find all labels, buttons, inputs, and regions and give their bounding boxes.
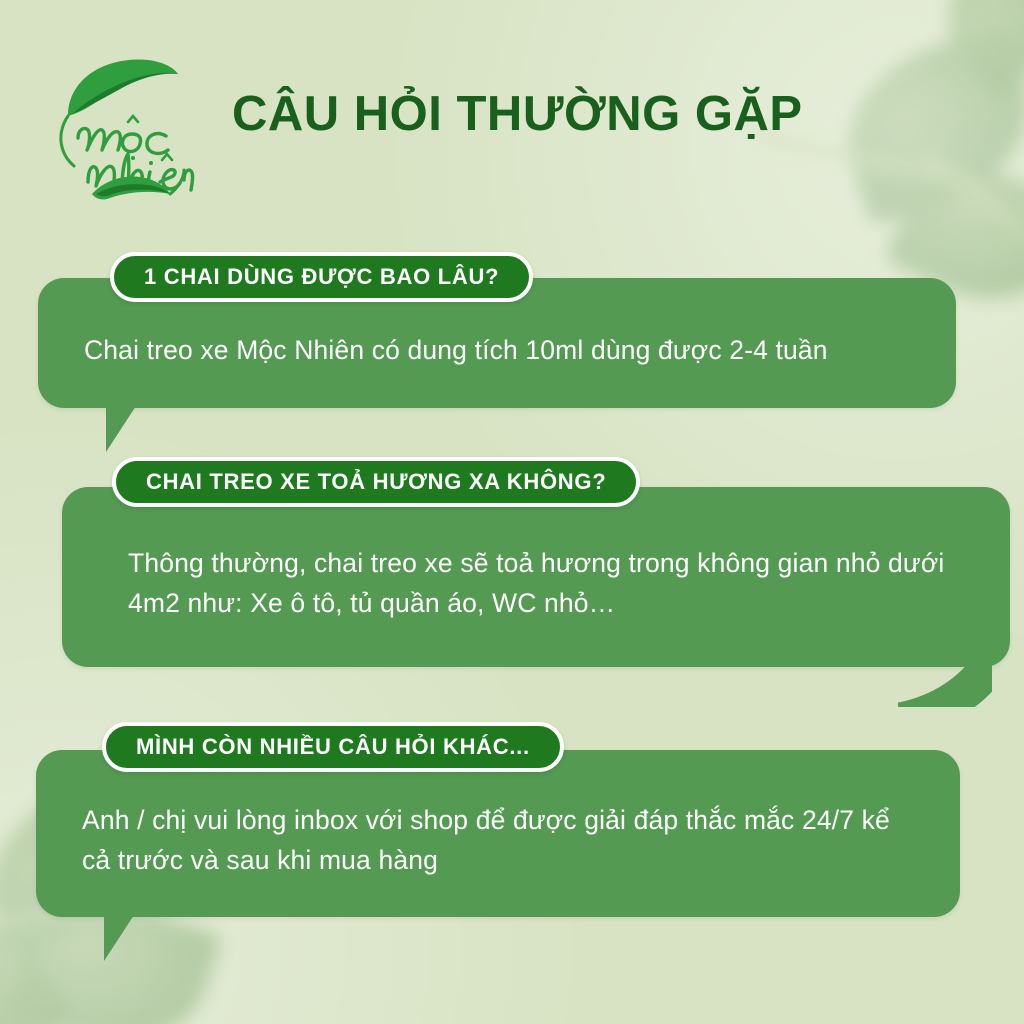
faq-item-1: 1 CHAI DÙNG ĐƯỢC BAO LÂU? Chai treo xe M… — [38, 278, 956, 408]
faq-question-1[interactable]: 1 CHAI DÙNG ĐƯỢC BAO LÂU? — [110, 252, 533, 302]
faq-answer-3: Anh / chị vui lòng inbox với shop để đượ… — [82, 800, 914, 881]
speech-tail-right-2 — [896, 663, 992, 707]
faq-question-3[interactable]: MÌNH CÒN NHIỀU CÂU HỎI KHÁC... — [102, 722, 564, 772]
poster-header: CÂU HỎI THƯỜNG GẶP — [36, 38, 988, 198]
faq-poster: CÂU HỎI THƯỜNG GẶP 1 CHAI DÙNG ĐƯỢC BAO … — [0, 0, 1024, 1024]
faq-answer-bubble-3: Anh / chị vui lòng inbox với shop để đượ… — [36, 750, 960, 917]
brand-logo — [44, 42, 204, 202]
page-title: CÂU HỎI THƯỜNG GẶP — [232, 86, 803, 142]
speech-tail-left-1 — [106, 406, 136, 452]
faq-answer-bubble-2: Thông thường, chai treo xe sẽ toả hương … — [62, 487, 1010, 667]
faq-answer-2: Thông thường, chai treo xe sẽ toả hương … — [128, 543, 964, 624]
faq-question-2[interactable]: CHAI TREO XE TOẢ HƯƠNG XA KHÔNG? — [112, 457, 640, 507]
faq-item-2: CHAI TREO XE TOẢ HƯƠNG XA KHÔNG? Thông t… — [62, 487, 1010, 667]
faq-answer-1: Chai treo xe Mộc Nhiên có dung tích 10ml… — [84, 330, 910, 370]
faq-item-3: MÌNH CÒN NHIỀU CÂU HỎI KHÁC... Anh / chị… — [36, 750, 960, 917]
speech-tail-left-3 — [104, 915, 134, 961]
